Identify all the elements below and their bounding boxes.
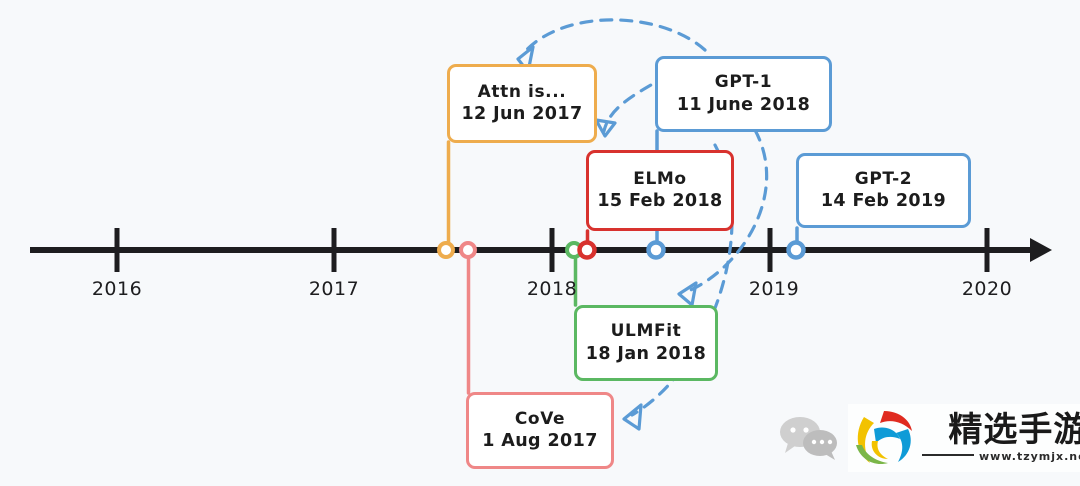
event-card-attn[interactable]: Attn is... 12 Jun 2017 [447,64,597,143]
timeline-diagram: 2016 2017 2018 2019 2020 Attn is... 12 J… [0,0,1080,486]
watermark-rule-left [922,454,974,456]
event-date-gpt2: 14 Feb 2019 [821,190,946,213]
year-label-2017: 2017 [309,278,359,300]
watermark-text-block: 精选手游网 www.tzymjx.net [922,413,1080,463]
year-label-2020: 2020 [962,278,1012,300]
watermark-site-name: 精选手游网 [948,413,1080,447]
event-date-cove: 1 Aug 2017 [482,430,598,453]
marker-cove[interactable] [461,243,475,257]
event-card-ulmfit[interactable]: ULMFit 18 Jan 2018 [574,305,718,381]
event-date-attn: 12 Jun 2017 [461,103,582,126]
event-title-cove: CoVe [515,408,565,430]
watermark-url: www.tzymjx.net [979,450,1080,463]
timeline-axis [30,228,1052,272]
watermark-panel: 精选手游网 www.tzymjx.net [848,404,1080,472]
event-title-elmo: ELMo [633,168,686,190]
marker-gpt2[interactable] [789,243,804,258]
event-title-gpt1: GPT-1 [715,71,772,93]
event-card-cove[interactable]: CoVe 1 Aug 2017 [466,392,614,469]
arrowhead-cove [624,405,641,429]
marker-gpt1[interactable] [649,243,664,258]
year-label-2019: 2019 [749,278,799,300]
event-date-gpt1: 11 June 2018 [677,94,810,117]
watermark: 精选手游网 www.tzymjx.net [778,404,1080,472]
event-date-elmo: 15 Feb 2018 [597,190,722,213]
event-date-ulmfit: 18 Jan 2018 [586,343,706,366]
event-card-gpt1[interactable]: GPT-1 11 June 2018 [655,56,832,132]
marker-elmo[interactable] [580,243,595,258]
year-label-2018: 2018 [527,278,577,300]
marker-attn[interactable] [439,243,453,257]
axis-arrow-head [1030,238,1052,262]
event-title-gpt2: GPT-2 [855,168,912,190]
event-card-elmo[interactable]: ELMo 15 Feb 2018 [586,150,734,231]
event-title-attn: Attn is... [478,81,567,103]
event-card-gpt2[interactable]: GPT-2 14 Feb 2019 [796,153,971,228]
event-title-ulmfit: ULMFit [611,320,682,342]
wechat-bubbles-icon [778,415,840,461]
year-label-2016: 2016 [92,278,142,300]
arrow-gpt1-to-attn [522,20,705,55]
colorful-swirl-logo-icon [850,407,916,469]
arrowhead-ulmfit [679,283,696,305]
watermark-url-row: www.tzymjx.net [922,447,1080,463]
